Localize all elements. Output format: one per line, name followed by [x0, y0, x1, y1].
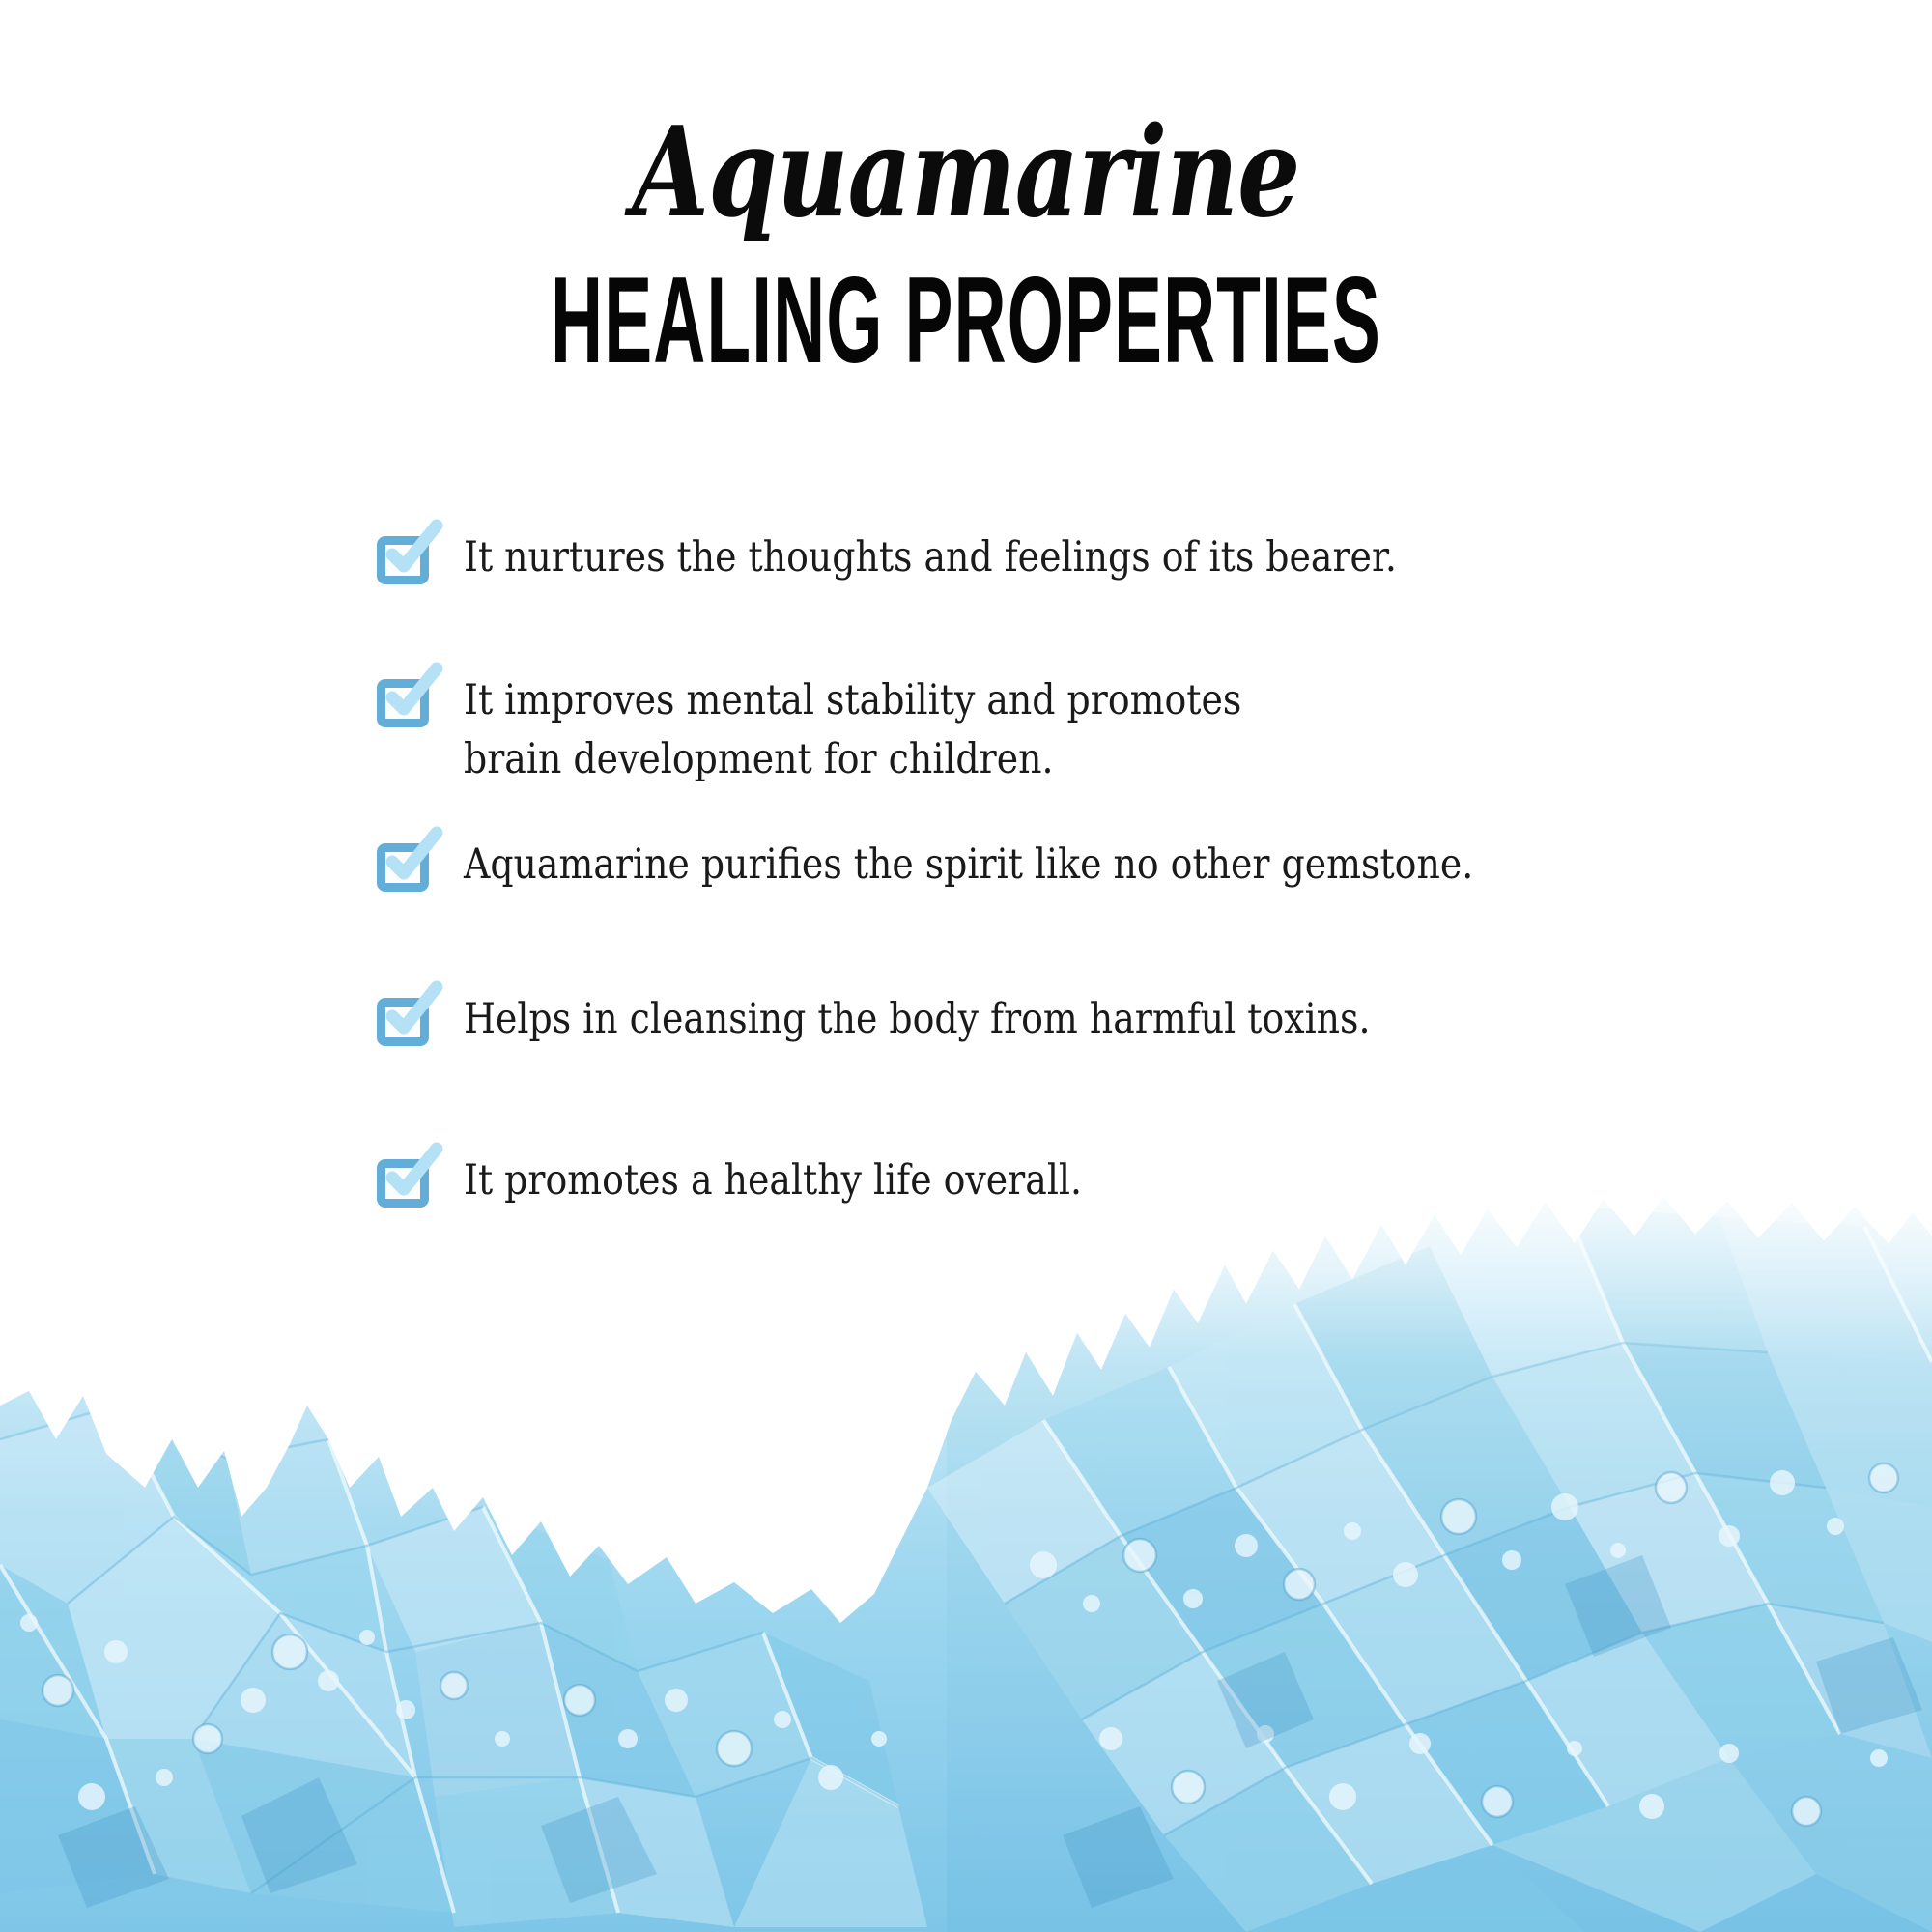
checkbox-checked-icon: [377, 675, 433, 731]
checkbox-checked-icon: [377, 994, 433, 1050]
checkbox-checked-icon: [377, 532, 433, 588]
list-item: Aquamarine purifies the spirit like no o…: [377, 834, 1611, 895]
list-item-label: It nurtures the thoughts and feelings of…: [464, 526, 1397, 587]
list-item: It promotes a healthy life overall.: [377, 1150, 1166, 1211]
list-item: It improves mental stability and promote…: [377, 669, 1348, 789]
list-item-label: Helps in cleansing the body from harmful…: [464, 988, 1371, 1049]
list-item-label: It improves mental stability and promote…: [464, 669, 1241, 789]
page-title-script: Aquamarine: [193, 104, 1739, 242]
page-title-main: HEALING PROPERTIES: [270, 260, 1662, 383]
checkbox-checked-icon: [377, 839, 433, 895]
list-item-label: It promotes a healthy life overall.: [464, 1150, 1082, 1210]
list-item-label: Aquamarine purifies the spirit like no o…: [464, 834, 1473, 895]
poster-canvas: Aquamarine HEALING PROPERTIES It nurture…: [0, 0, 1932, 1932]
heading-block: Aquamarine HEALING PROPERTIES: [0, 104, 1932, 360]
list-item: It nurtures the thoughts and feelings of…: [377, 526, 1524, 588]
ice-cubes-photo: [0, 1198, 1932, 1932]
checkbox-checked-icon: [377, 1155, 433, 1211]
list-item: Helps in cleansing the body from harmful…: [377, 988, 1493, 1050]
